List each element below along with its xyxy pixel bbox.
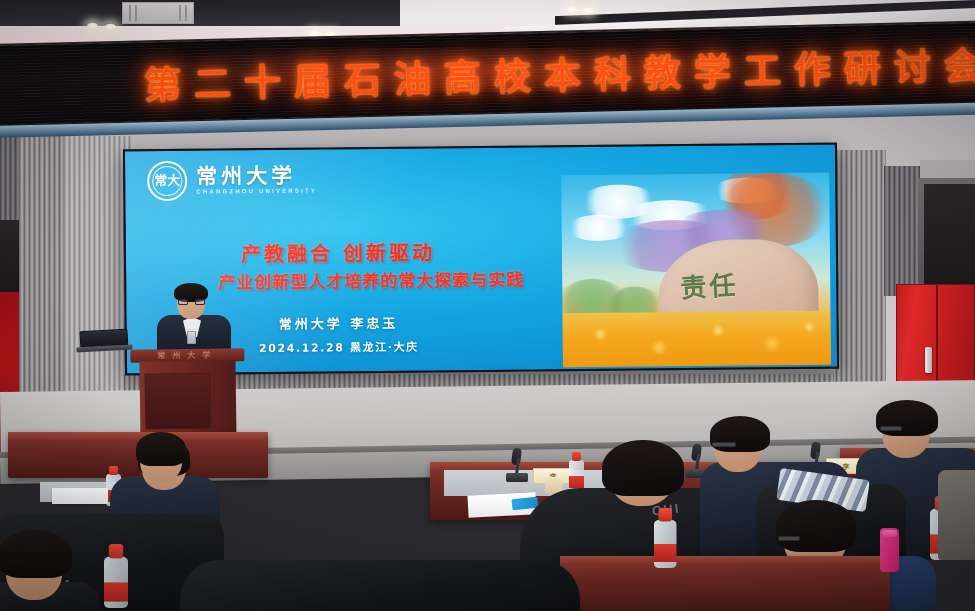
desk-top-edge	[560, 556, 890, 565]
conference-hall-photo: 第二十届石油高校本科教学工作研讨会 常大 常州大学 CHANGZHOU UNIV…	[0, 0, 975, 611]
golden-ground	[563, 311, 832, 368]
lectern-engraving: 常州大学	[136, 349, 238, 361]
bottle-body	[104, 557, 128, 608]
ceiling-vent-left	[122, 2, 194, 24]
downlight	[104, 23, 117, 30]
ceiling-dark-band	[0, 0, 400, 26]
audience-desk-foreground	[560, 556, 890, 611]
bottle-body	[654, 520, 677, 568]
stone-inscription: 责任	[679, 263, 777, 306]
right-door-recess	[924, 184, 975, 298]
person-body	[180, 560, 580, 611]
right-flute-column-2	[884, 166, 922, 296]
audience-person-far-left-head	[0, 530, 100, 611]
water-bottle	[104, 544, 128, 608]
pink-thermos	[880, 528, 899, 572]
university-emblem-icon: 常大	[147, 161, 187, 201]
university-name-cn: 常州大学	[196, 165, 317, 188]
door-handle	[925, 347, 932, 373]
lectern-panel	[145, 373, 212, 430]
podium-laptop	[75, 329, 130, 354]
person-hair	[776, 500, 856, 552]
bottle-label	[654, 544, 677, 562]
logo-text-block: 常州大学 CHANGZHOU UNIVERSITY	[196, 165, 317, 196]
slide-campus-photo: 责任	[561, 173, 831, 368]
bottle-label	[104, 582, 128, 601]
downlight	[582, 7, 595, 14]
university-name-en: CHANGZHOU UNIVERSITY	[196, 189, 317, 196]
audience-foreground-silhouette	[180, 560, 580, 611]
speaker-badge	[187, 331, 196, 344]
presentation-slide: 常大 常州大学 CHANGZHOU UNIVERSITY 产教融合 创新驱动 产…	[125, 145, 837, 374]
person-glasses-icon	[880, 426, 902, 431]
water-bottle	[654, 508, 677, 568]
person-hair	[136, 432, 186, 466]
slide-title: 产教融合 创新驱动	[126, 235, 550, 268]
person-hair	[0, 530, 72, 578]
person-glasses-icon	[712, 442, 736, 447]
person-glasses-icon	[778, 536, 800, 541]
emblem-text: 常大	[154, 174, 180, 187]
bottle-cap	[109, 544, 123, 558]
person-hair	[602, 440, 684, 496]
university-logo: 常大 常州大学 CHANGZHOU UNIVERSITY	[147, 160, 317, 202]
bottle-cap	[659, 508, 673, 522]
led-banner-text: 第二十届石油高校本科教学工作研讨会	[143, 35, 975, 109]
speaker-presenter	[157, 283, 231, 355]
downlight	[86, 22, 99, 29]
speaker-glasses-icon	[178, 299, 205, 305]
chair-back	[938, 470, 975, 560]
downlight	[566, 6, 579, 13]
audience-person-center-left	[108, 430, 204, 530]
